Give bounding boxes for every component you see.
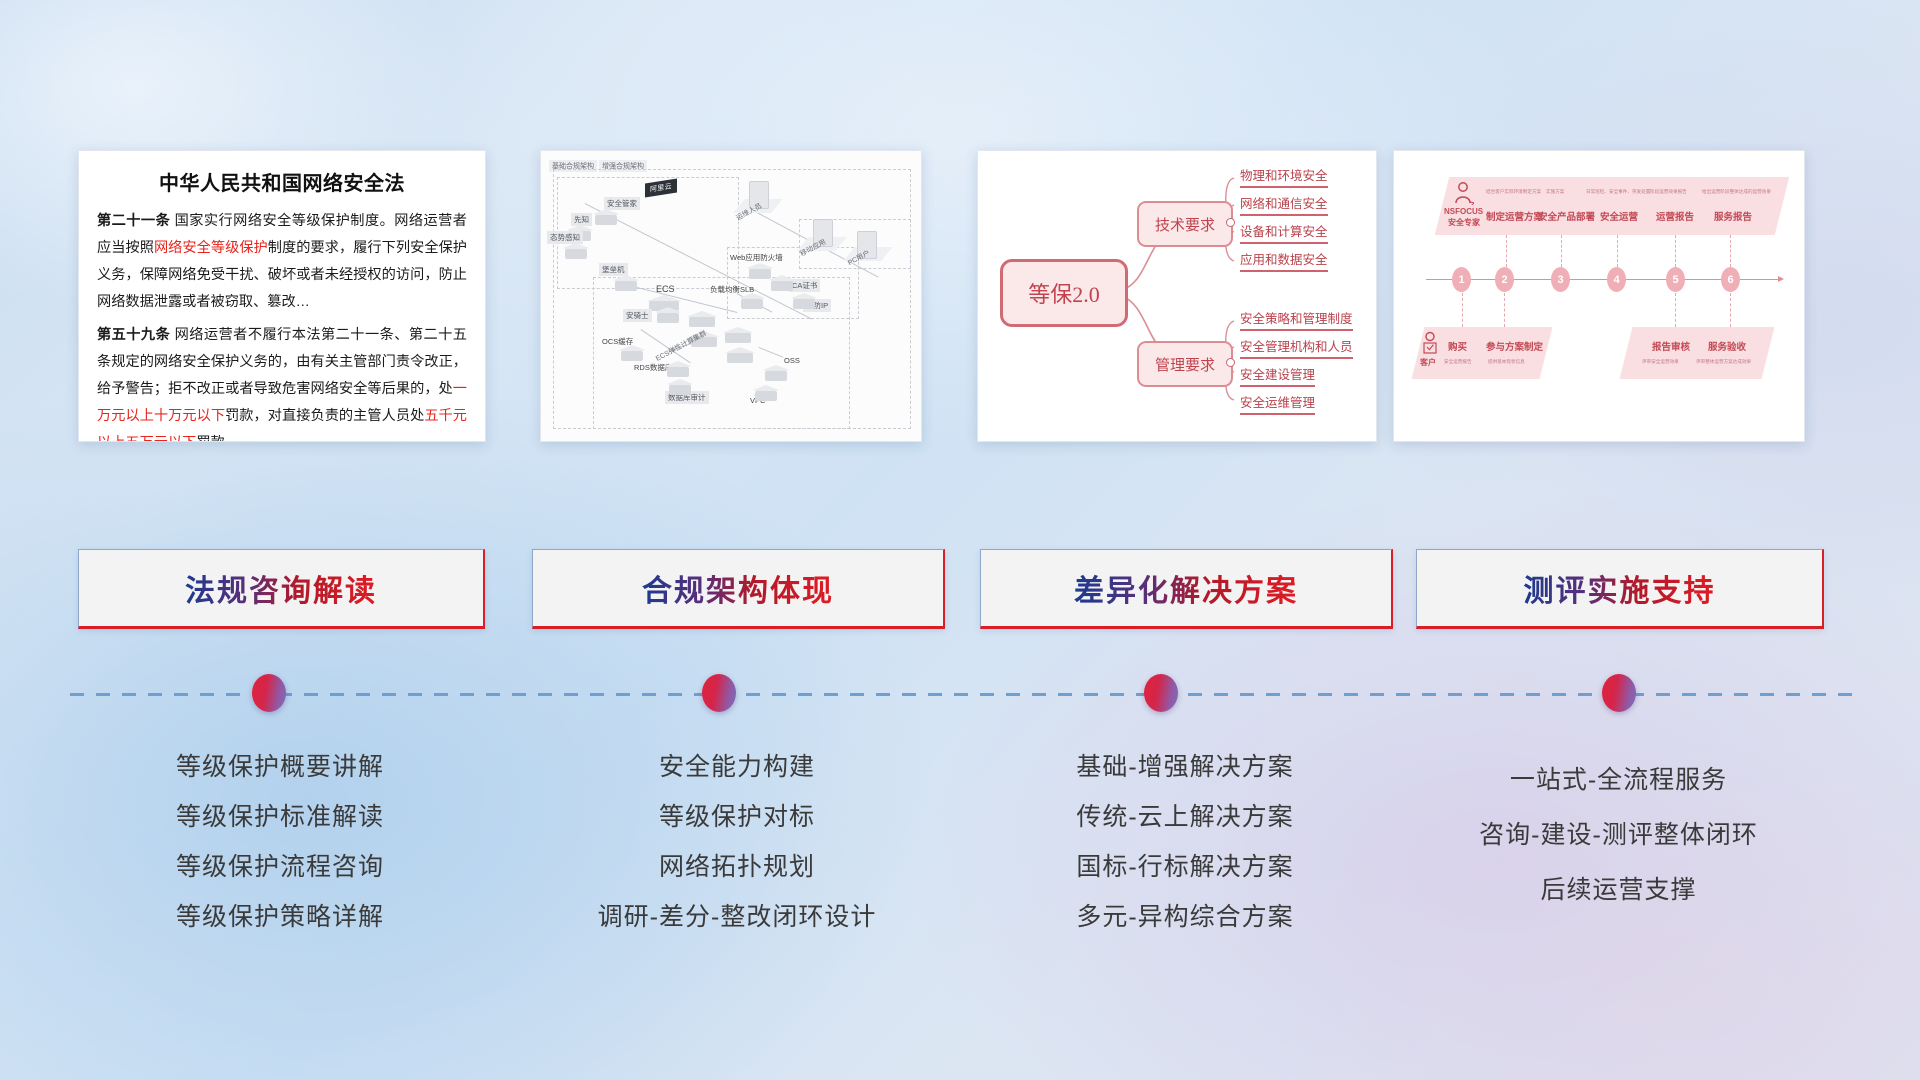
nsfocus-bottom-title-4: 服务验收 [1708, 339, 1746, 353]
pill-assessment-support[interactable]: 测评实施支持 [1416, 549, 1824, 629]
pill-label-1: 法规咨询解读 [185, 566, 377, 610]
list-item: 等级保护概要讲解 [78, 742, 482, 792]
list-item: 国标-行标解决方案 [980, 842, 1390, 892]
pill-label-4: 测评实施支持 [1524, 566, 1716, 610]
mindmap-leaf-tech-1: 物理和环境安全 [1240, 165, 1328, 188]
mindmap-leaf-tech-2: 网络和通信安全 [1240, 193, 1328, 216]
nsfocus-expert-line1: NSFOCUS [1444, 207, 1483, 216]
nsfocus-step-num-2: 2 [1495, 267, 1514, 292]
customer-person-icon [1420, 331, 1440, 355]
nsfocus-bottom-sub-1: 安全运营报告 [1444, 359, 1472, 365]
mindmap-leaf-mgmt-1: 安全策略和管理制度 [1240, 308, 1353, 331]
arch-cube-rds [665, 361, 691, 379]
nsfocus-expert-band [1435, 177, 1789, 235]
card-nsfocus-timeline: NSFOCUS 安全专家 结合客户实际环境制定方案 制定运营方案 实施方案 安全… [1393, 150, 1805, 442]
nsfocus-bottom-sub-2: 提供基本现状信息 [1488, 359, 1525, 365]
pill-label-2: 合规架构体现 [642, 566, 834, 610]
nsfocus-top-title-1: 制定运营方案 [1486, 209, 1543, 223]
list-item: 传统-云上解决方案 [980, 792, 1390, 842]
pill-differentiated-solution[interactable]: 差异化解决方案 [980, 549, 1393, 629]
nsfocus-axis-arrow-icon [1778, 276, 1784, 282]
nsfocus-dash-b6 [1730, 293, 1732, 327]
arch-node-anqishi: 安骑士 [623, 309, 652, 322]
mindmap-leaf-tech-4: 应用和数据安全 [1240, 249, 1328, 272]
card-mindmap-dengbao: 等保2.0 技术要求 物理和环境安全 网络和通信安全 设备和计算安全 应用和数据… [977, 150, 1377, 442]
arch-cube-compute-4 [725, 347, 755, 367]
pill-regulation-consulting[interactable]: 法规咨询解读 [78, 549, 485, 629]
law-title: 中华人民共和国网络安全法 [97, 167, 467, 196]
nsfocus-top-sub-3: 日常巡检、安全事件、突发处置 [1586, 189, 1650, 195]
nsfocus-bottom-sub-3: 评审安全运营效果 [1642, 359, 1679, 365]
list-item: 一站式-全流程服务 [1416, 753, 1821, 808]
nsfocus-step-num-4: 4 [1607, 267, 1626, 292]
detail-list-2: 安全能力构建 等级保护对标 网络拓扑规划 调研-差分-整改闭环设计 [532, 742, 942, 942]
nsfocus-ops-flow: NSFOCUS 安全专家 结合客户实际环境制定方案 制定运营方案 实施方案 安全… [1394, 151, 1804, 441]
list-item: 等级保护标准解读 [78, 792, 482, 842]
nsfocus-dash-b2 [1504, 293, 1506, 327]
nsfocus-top-title-2: 安全产品部署 [1538, 209, 1595, 223]
arch-node-ecs: ECS [653, 283, 678, 295]
arch-cube-compute-3 [723, 327, 753, 347]
slide-canvas: 中华人民共和国网络安全法 第二十一条 国家实行网络安全等级保护制度。网络运营者应… [0, 0, 1920, 1080]
article-59-label: 第五十九条 [97, 327, 170, 343]
law-document: 中华人民共和国网络安全法 第二十一条 国家实行网络安全等级保护制度。网络运营者应… [79, 151, 485, 441]
nsfocus-step-num-5: 5 [1666, 267, 1685, 292]
arch-cube-db-audit [667, 379, 693, 397]
timeline-dot-3[interactable] [1144, 674, 1178, 712]
nsfocus-dash-5 [1675, 235, 1677, 267]
nsfocus-top-sub-2: 实施方案 [1546, 189, 1564, 195]
nsfocus-step-num-3: 3 [1551, 267, 1570, 292]
nsfocus-bottom-title-2: 参与方案制定 [1486, 339, 1543, 353]
nsfocus-dash-3 [1561, 235, 1563, 267]
nsfocus-customer-band-right [1620, 327, 1775, 379]
nsfocus-dash-2 [1506, 235, 1508, 267]
nsfocus-dash-b5 [1675, 293, 1677, 327]
list-item: 等级保护策略详解 [78, 892, 482, 942]
nsfocus-customer-role: 客户 [1420, 357, 1436, 368]
nsfocus-expert-line2: 安全专家 [1448, 217, 1480, 228]
list-item: 等级保护流程咨询 [78, 842, 482, 892]
nsfocus-top-sub-4: 阶段运营效果报告 [1650, 189, 1687, 195]
card-cloud-architecture: 基础合规架构 增强合规架构 阿里云 安全管家 [540, 150, 922, 442]
arch-cube-situation-awareness [563, 243, 589, 261]
mindmap-leaf-mgmt-3: 安全建设管理 [1240, 364, 1315, 387]
law-article-59: 第五十九条 网络运营者不履行本法第二十一条、第二十五条规定的网络安全保护义务的，… [97, 322, 467, 442]
image-card-row: 中华人民共和国网络安全法 第二十一条 国家实行网络安全等级保护制度。网络运营者应… [0, 150, 1920, 450]
mindmap: 等保2.0 技术要求 物理和环境安全 网络和通信安全 设备和计算安全 应用和数据… [978, 151, 1376, 441]
list-item: 基础-增强解决方案 [980, 742, 1390, 792]
mindmap-branch-management: 管理要求 [1137, 341, 1233, 387]
nsfocus-top-sub-1: 结合客户实际环境制定方案 [1486, 189, 1541, 195]
mindmap-leaf-mgmt-2: 安全管理机构和人员 [1240, 336, 1353, 359]
nsfocus-bottom-title-3: 报告审核 [1652, 339, 1690, 353]
pill-label-3: 差异化解决方案 [1074, 566, 1298, 610]
expert-person-icon [1452, 181, 1474, 205]
nsfocus-step-num-1: 1 [1452, 267, 1471, 292]
nsfocus-top-title-3: 安全运营 [1600, 209, 1638, 223]
nsfocus-dash-b1 [1462, 293, 1464, 327]
list-item: 多元-异构综合方案 [980, 892, 1390, 942]
list-item: 后续运营支撑 [1416, 863, 1821, 918]
article-21-highlight: 网络安全等级保护 [154, 240, 268, 256]
arch-cube-slb [739, 293, 765, 311]
card-cybersecurity-law: 中华人民共和国网络安全法 第二十一条 国家实行网络安全等级保护制度。网络运营者应… [78, 150, 486, 442]
mindmap-leaf-tech-3: 设备和计算安全 [1240, 221, 1328, 244]
arch-cube-anti-ddos [791, 293, 817, 311]
nsfocus-top-title-5: 服务报告 [1714, 209, 1752, 223]
list-item: 安全能力构建 [532, 742, 942, 792]
list-item: 咨询-建设-测评整体闭环 [1416, 808, 1821, 863]
nsfocus-step-num-6: 6 [1721, 267, 1740, 292]
nsfocus-top-sub-5: 给出运营阶段整体达成的运营效果 [1702, 189, 1771, 195]
detail-list-4: 一站式-全流程服务 咨询-建设-测评整体闭环 后续运营支撑 [1416, 753, 1821, 918]
nsfocus-bottom-title-1: 购买 [1448, 339, 1467, 353]
nsfocus-top-title-4: 运营报告 [1656, 209, 1694, 223]
arch-cube-oss [763, 365, 789, 383]
timeline-dot-2[interactable] [702, 674, 736, 712]
detail-list-1: 等级保护概要讲解 等级保护标准解读 等级保护流程咨询 等级保护策略详解 [78, 742, 482, 942]
mindmap-hub-technical [1226, 218, 1235, 227]
arch-cube-ca [769, 275, 795, 293]
arch-cube-safe-steward [593, 209, 619, 227]
mindmap-leaf-mgmt-4: 安全运维管理 [1240, 392, 1315, 415]
list-item: 等级保护对标 [532, 792, 942, 842]
pill-compliance-architecture[interactable]: 合规架构体现 [532, 549, 945, 629]
mindmap-root: 等保2.0 [1000, 259, 1128, 327]
nsfocus-dash-4 [1617, 235, 1619, 267]
timeline-dot-1[interactable] [252, 674, 286, 712]
nsfocus-bottom-sub-4: 评审整体运营方案达成效果 [1696, 359, 1751, 365]
arch-cube-bastion [613, 275, 639, 293]
article-59-text-b: 罚款，对直接负责的主管人员处 [225, 408, 424, 424]
nsfocus-dash-6 [1730, 235, 1732, 267]
timeline-dashed-line [70, 693, 1855, 696]
arch-cube-anqishi [655, 307, 681, 325]
mindmap-hub-management [1226, 358, 1235, 367]
article-21-label: 第二十一条 [97, 213, 170, 229]
timeline-dot-4[interactable] [1602, 674, 1636, 712]
list-item: 调研-差分-整改闭环设计 [532, 892, 942, 942]
list-item: 网络拓扑规划 [532, 842, 942, 892]
article-59-text-c: 罚款。 [196, 435, 239, 442]
architecture-diagram: 基础合规架构 增强合规架构 阿里云 安全管家 [541, 151, 921, 441]
law-article-21: 第二十一条 国家实行网络安全等级保护制度。网络运营者应当按照网络安全等级保护制度… [97, 208, 467, 316]
detail-list-3: 基础-增强解决方案 传统-云上解决方案 国标-行标解决方案 多元-异构综合方案 [980, 742, 1390, 942]
mindmap-branch-technical: 技术要求 [1137, 201, 1233, 247]
arch-cube-vpc [753, 385, 779, 403]
